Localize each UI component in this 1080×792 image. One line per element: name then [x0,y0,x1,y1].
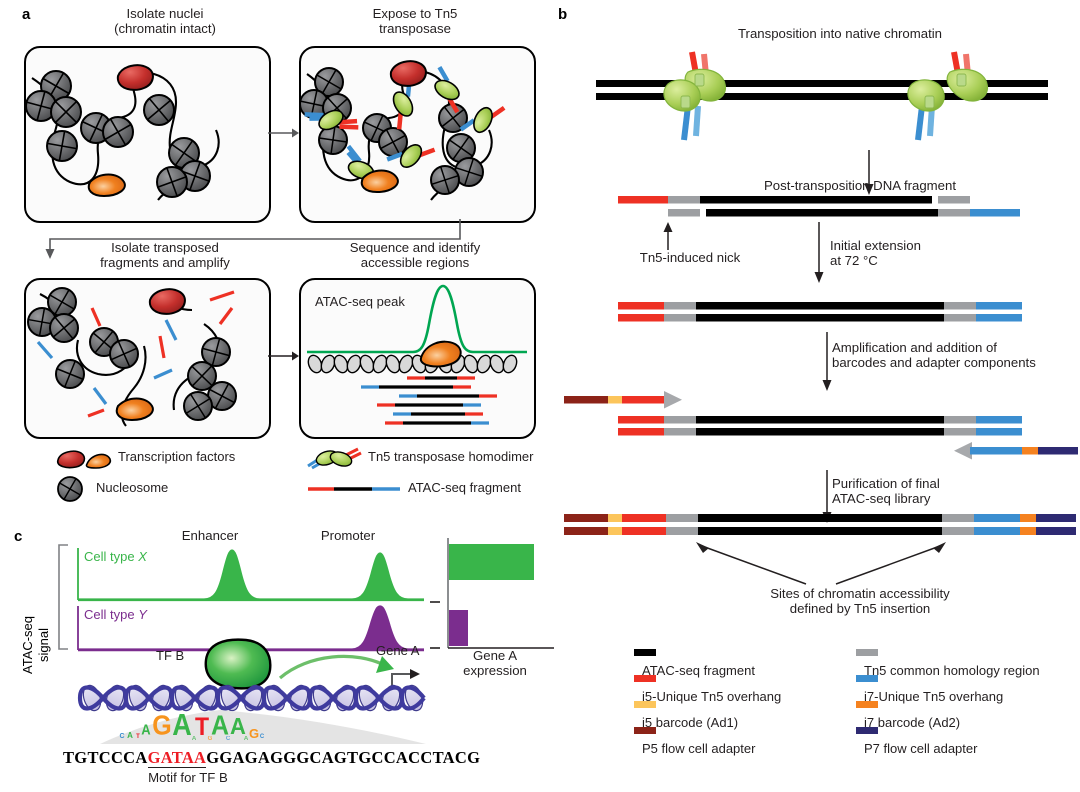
legend-item-atac-fragment: ATAC-seq fragment [306,476,402,502]
tf-orange [362,171,398,193]
legend-item-p5-flow-cell-adapter: P5 flow cell adapter [634,722,755,758]
diagram-expose-tn5 [299,46,536,223]
purification-label: Purification of final ATAC-seq library [832,476,1042,506]
legend-item-p7-flow-cell-adapter: P7 flow cell adapter [856,722,977,758]
label-cell-type-x: Cell type X [84,549,147,564]
chromatin-illustration-1 [26,48,269,221]
fragment-line-icon [306,476,402,502]
chromatin-illustration-2 [301,48,534,221]
strand-top [618,416,1022,424]
figure-root: a Isolate nuclei (chromatin intact) Expo… [0,0,1080,792]
strand-top [618,302,1022,310]
tn5-dimer-left [664,52,726,140]
sequence-logo: C A T A G A T A A G C A G C A [110,708,270,742]
svg-text:G: G [152,709,171,740]
gene-expression-bar-chart [430,536,556,654]
diagram-isolate-nuclei [24,46,271,223]
atac-seq-peak-label: ATAC-seq peak [315,294,405,309]
legend-item-tn5-homodimer: Tn5 transposase homodimer [306,446,362,470]
legend-label-tn5-homodimer: Tn5 transposase homodimer [368,449,533,464]
label-promoter: Promoter [288,528,408,543]
tf-orange [89,175,125,197]
legend-label-transcription-factors: Transcription factors [118,449,235,464]
svg-text:G: G [249,726,259,741]
transposition-diagram [592,48,1052,166]
strand-top [564,514,1076,522]
gene-expression-label: Gene A expression [432,648,558,678]
accessibility-site-arrows [690,540,950,588]
caption-isolate-fragments: Isolate transposed fragments and amplify [50,240,280,270]
final-library-fragment [556,514,1080,538]
extended-fragment [618,302,1060,324]
svg-text:A: A [192,736,197,742]
svg-text:A: A [244,736,249,742]
accessibility-note: Sites of chromatin accessibility defined… [640,586,1080,616]
caption-sequence-identify: Sequence and identify accessible regions [300,240,530,270]
dna-helix-strip [306,353,519,374]
legend-label-p5-flow-cell-adapter: P5 flow cell adapter [642,741,755,756]
svg-text:C: C [119,733,124,740]
svg-text:C: C [260,734,265,740]
panel-c-y-axis-label: ATAC-seq signal [10,545,32,645]
swatch-i7-barcode [856,701,878,708]
panel-a-letter: a [22,6,30,23]
panel-b-title: Transposition into native chromatin [620,26,1060,41]
svg-text:G: G [208,736,213,742]
strand-bottom [618,314,1022,322]
legend-label-nucleosome: Nucleosome [96,480,168,495]
tf-red [391,61,426,86]
arrow-step3-to-step4 [268,347,300,365]
post-transposition-title: Post-transposition DNA fragment [640,178,1080,193]
swatch-i5-barcode [634,701,656,708]
strand-bottom [564,527,1076,535]
strand-bottom [668,209,1020,217]
swatch-p5-flow-cell-adapter [634,727,656,734]
svg-text:C: C [226,736,231,742]
sequence-prefix: TGTCCCA [63,748,148,767]
tn5-induced-nick-label: Tn5-induced nick [600,250,780,265]
tf-shapes-icon [56,446,112,470]
post-transposition-fragment [618,196,1060,226]
diagram-sequence-identify: ATAC-seq peak [299,278,536,439]
amplification-diagram [556,394,1080,470]
tf-orange [117,399,153,421]
p5-primer [564,391,682,409]
swatch-tn5-common-homology [856,649,878,656]
p7-primer [954,442,1078,460]
tn5-dimer-icon [306,446,362,470]
tf-red [118,65,153,90]
label-cell-type-y: Cell type Y [84,607,147,622]
panel-c-letter: c [14,528,22,545]
caption-expose-tn5: Expose to Tn5 transposase [300,6,530,36]
initial-extension-label: Initial extension at 72 °C [830,238,1040,268]
bar-cell-type-x [449,544,534,580]
svg-text:A: A [127,731,133,740]
motif-sequence: TGTCCCAGATAAGGAGAGGGCAGTGCCACCTACG [63,748,480,768]
svg-text:A: A [141,721,150,738]
sequence-motif: GATAA [148,748,207,768]
tf-red [150,289,185,314]
arrow-step1-to-step2 [268,124,300,142]
svg-text:A: A [172,709,192,743]
strand-top [618,196,970,204]
y-axis-bracket [56,544,70,650]
panel-b-letter: b [558,6,567,23]
legend-item-transcription-factors: Transcription factors [56,446,112,470]
caption-isolate-nuclei: Isolate nuclei (chromatin intact) [50,6,280,36]
fragments-illustration [26,280,269,437]
swatch-i7-unique-overhang [856,675,878,682]
amplification-label: Amplification and addition of barcodes a… [832,340,1080,370]
sequencing-reads [361,378,497,423]
swatch-atac-seq-fragment [634,649,656,656]
swatch-i5-unique-overhang [634,675,656,682]
legend-item-nucleosome: Nucleosome [56,476,112,502]
label-tf-b: TF B [156,648,184,663]
label-enhancer: Enhancer [150,528,270,543]
legend-label-atac-fragment: ATAC-seq fragment [408,480,521,495]
svg-text:T: T [136,734,140,740]
motif-caption: Motif for TF B [108,770,268,785]
arrow-initial-extension [812,222,826,284]
tf-orange-peak [421,342,461,367]
diagram-isolate-fragments [24,278,271,439]
bar-cell-type-y [449,610,468,646]
sequence-suffix: GGAGAGGGCAGTGCCACCTACG [206,748,480,767]
nick-arrow [660,222,676,250]
legend-label-p7-flow-cell-adapter: P7 flow cell adapter [864,741,977,756]
swatch-p7-flow-cell-adapter [856,727,878,734]
strand-bottom [618,428,1022,436]
